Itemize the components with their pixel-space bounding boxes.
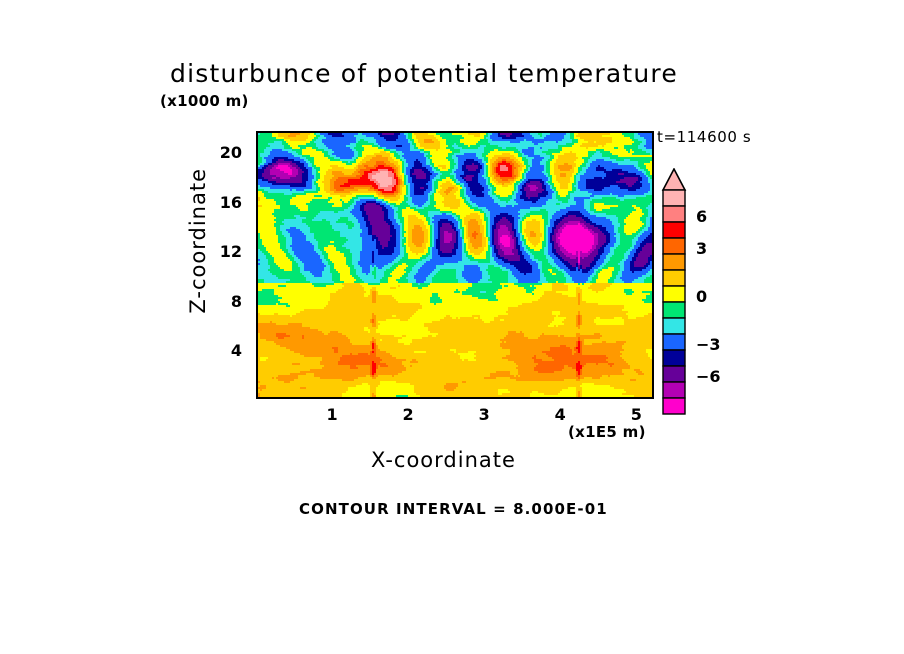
colorbar-band [663,398,685,414]
colorbar-band [663,334,685,350]
colorbar-band [663,366,685,382]
colorbar-band [663,206,685,222]
colorbar-band [663,270,685,286]
colorbar-band [663,190,685,206]
x-axis-unit-label: (x1E5 m) [568,423,646,441]
x-tick-label: 4 [545,405,575,424]
colorbar-swatches [660,168,690,418]
contour-field [258,133,652,397]
x-tick-label: 2 [393,405,423,424]
page-title: disturbunce of potential temperature [170,59,678,88]
y-tick-label: 20 [208,143,242,162]
y-axis-title: Z-coordinate [186,168,210,314]
x-tick-label: 5 [621,405,651,424]
y-tick-label: 12 [208,242,242,261]
x-tick-label: 1 [317,405,347,424]
colorbar-band [663,222,685,238]
x-tick-label: 3 [469,405,499,424]
colorbar-tick-label: −3 [696,335,721,354]
colorbar-tick-label: 3 [696,239,707,258]
colorbar-band [663,350,685,366]
z-axis-unit-label: (x1000 m) [160,92,249,110]
y-tick-label: 8 [208,292,242,311]
colorbar-tick-label: 6 [696,207,707,226]
colorbar-band [663,382,685,398]
colorbar-band [663,286,685,302]
colorbar-tick-label: 0 [696,287,707,306]
colorbar-band [663,302,685,318]
timestamp-label: t=114600 s [657,128,751,146]
colorbar-band [663,238,685,254]
x-axis-title: X-coordinate [371,448,516,472]
colorbar: 630−3−6 [660,168,690,422]
figure-canvas: disturbunce of potential temperature (x1… [0,0,904,654]
y-tick-label: 16 [208,193,242,212]
colorbar-tick-label: −6 [696,367,721,386]
y-tick-label: 4 [208,341,242,360]
contour-interval-label: CONTOUR INTERVAL = 8.000E-01 [299,500,608,518]
contour-plot-area [256,131,654,399]
colorbar-band [663,254,685,270]
colorbar-band [663,318,685,334]
